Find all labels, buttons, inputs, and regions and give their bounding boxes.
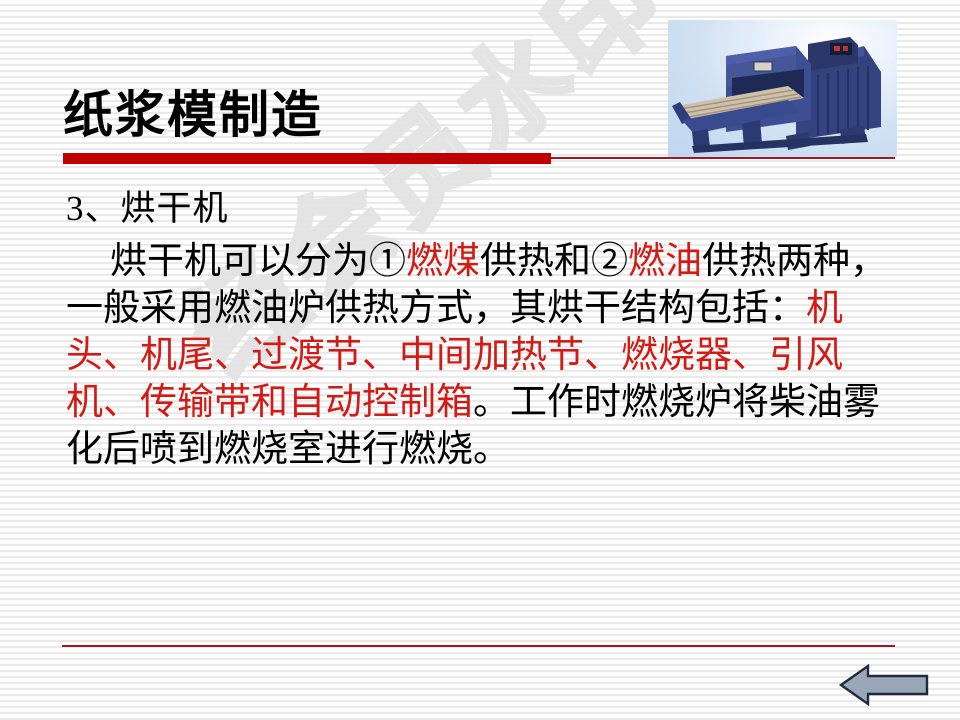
dryer-machine-photo bbox=[668, 20, 897, 157]
back-arrow-button[interactable] bbox=[838, 663, 930, 707]
title-accent-rule bbox=[551, 157, 895, 159]
content-body: 3、烘干机 烘干机可以分为①燃煤供热和②燃油供热两种，一般采用燃油炉供热方式，其… bbox=[66, 186, 906, 473]
body-paragraph: 烘干机可以分为①燃煤供热和②燃油供热两种，一般采用燃油炉供热方式，其烘干结构包括… bbox=[66, 238, 904, 473]
title-accent-bar bbox=[63, 153, 551, 164]
dryer-machine-illustration bbox=[668, 20, 897, 157]
paragraph-segment: 烘干机可以分为① bbox=[110, 241, 406, 282]
paragraph-segment: 供热和② bbox=[480, 241, 628, 282]
arrow-left-icon[interactable] bbox=[838, 663, 930, 707]
page-title: 纸浆模制造 bbox=[63, 90, 323, 140]
paragraph-segment-highlight: 燃油 bbox=[628, 241, 702, 282]
section-heading: 3、烘干机 bbox=[66, 186, 906, 232]
footer-rule bbox=[62, 645, 895, 647]
slide-canvas: 经会员水印 bbox=[0, 0, 960, 720]
paragraph-segment-highlight: 燃煤 bbox=[406, 241, 480, 282]
